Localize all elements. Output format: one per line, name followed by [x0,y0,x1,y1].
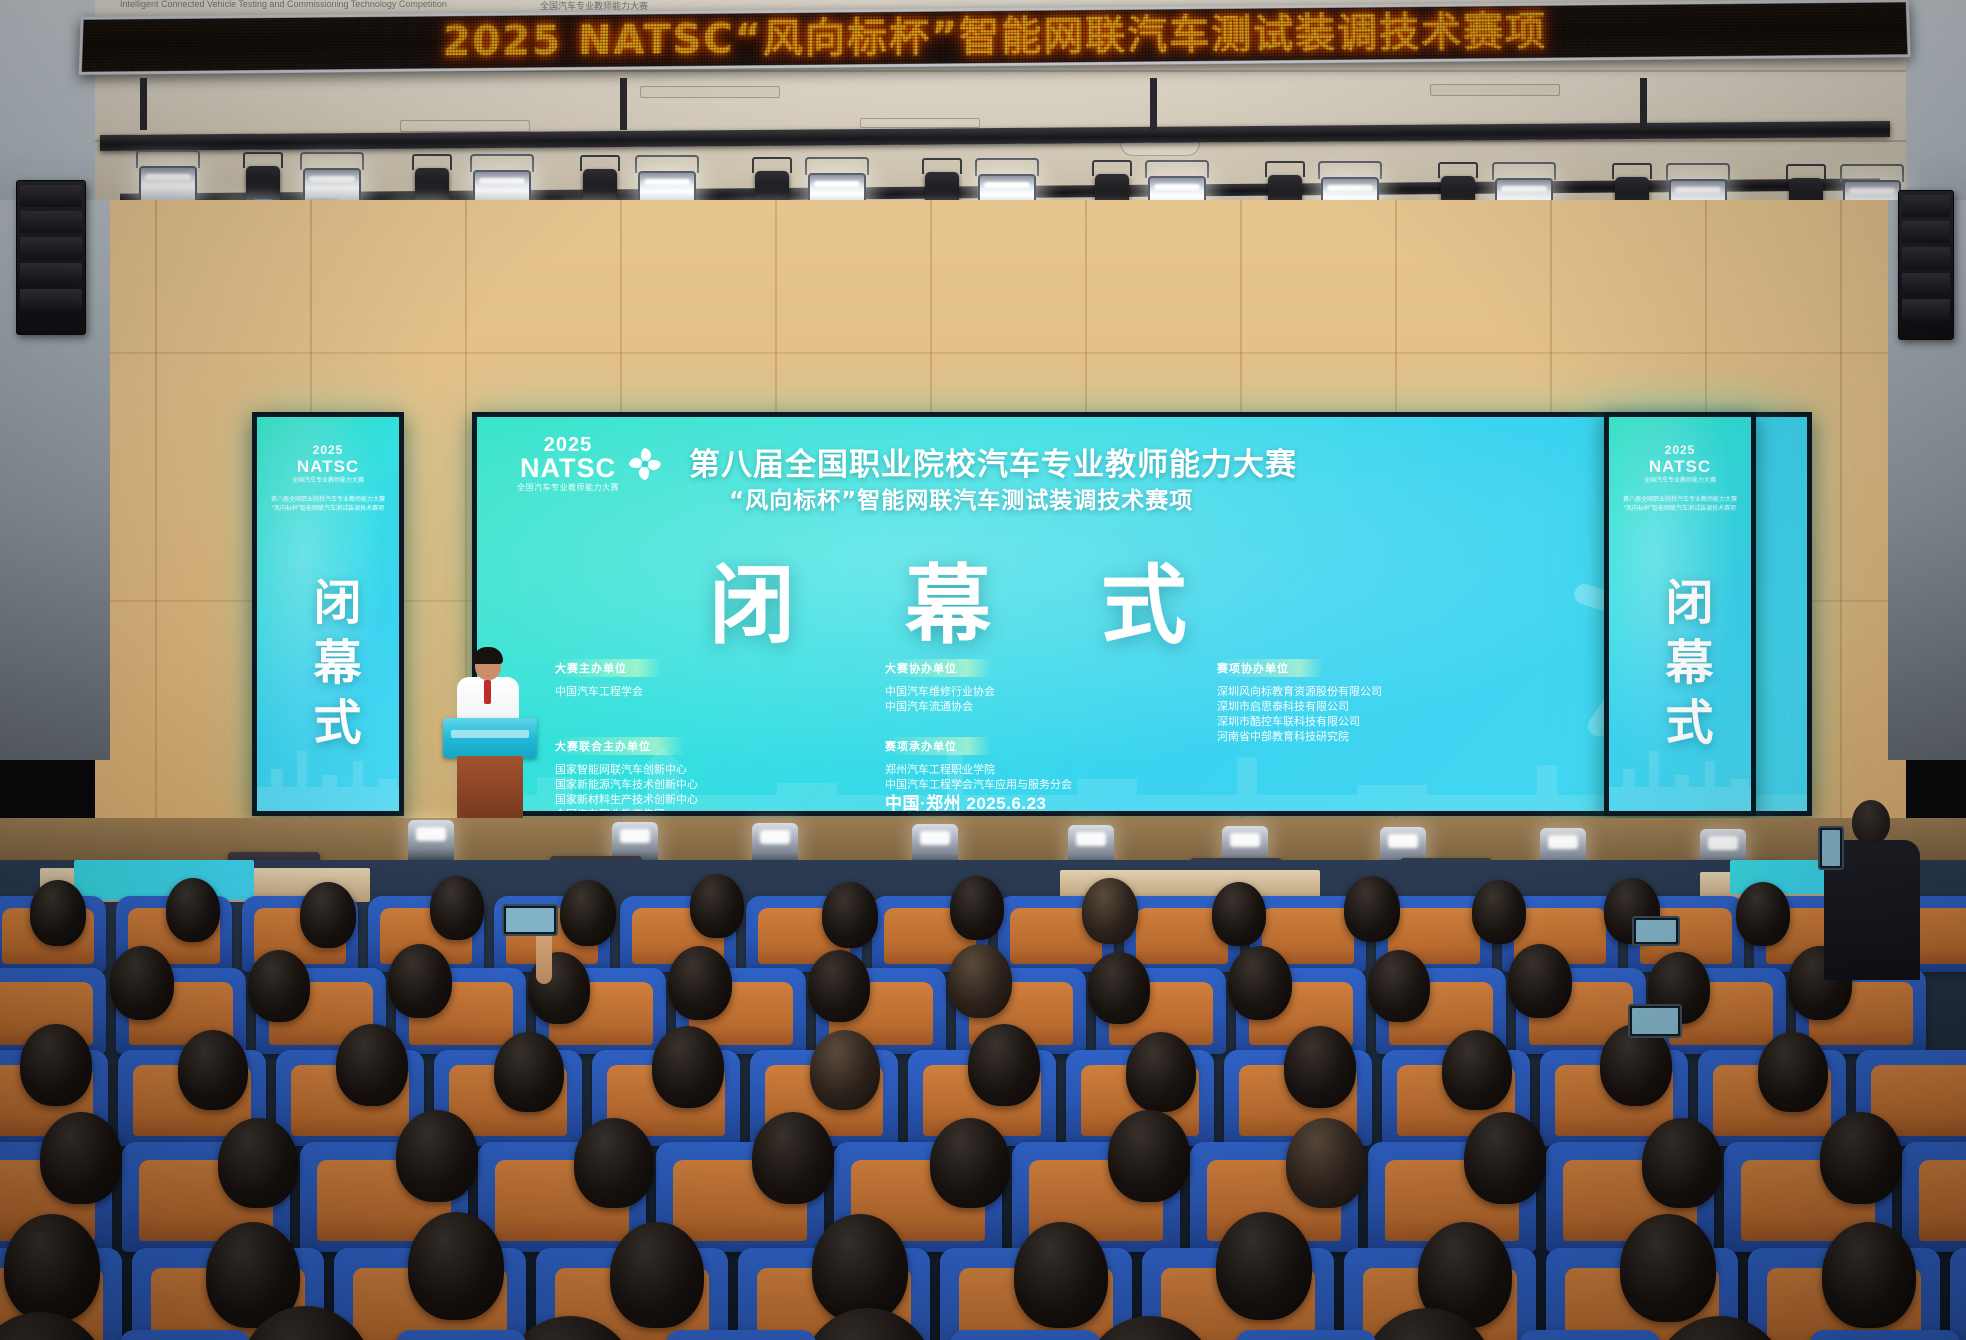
audience-area [0,860,1966,1340]
audience-head [218,1118,298,1208]
natsc-year: 2025 [517,435,619,455]
audience-head [300,882,356,948]
audience-head [110,946,174,1020]
monitor-screen-back [74,860,254,900]
smartphone [1628,1004,1682,1038]
audience-head [1442,1030,1512,1110]
natsc-subtitle: 全国汽车专业教师能力大赛 [517,484,619,492]
audience-head [1820,1112,1902,1204]
side-right-subtitle: 全国汽车专业教师能力大赛 [1609,477,1751,486]
side-screen-left: 2025 NATSC 全国汽车专业教师能力大赛 第八届全国职业院校汽车专业教师能… [252,412,404,816]
audience-head [1082,878,1138,944]
audience-head [1642,1118,1722,1208]
side-right-name: NATSC [1609,457,1751,477]
audience-head [752,1112,834,1204]
audience-head [1736,882,1790,946]
stage-floor-light [752,823,798,865]
pre-banner-left-text: Intelligent Connected Vehicle Testing an… [120,0,447,9]
audience-head [948,944,1012,1018]
fresnel-light [139,166,197,204]
audience-head [248,950,310,1022]
gear-pinwheel-icon [625,444,665,484]
smartphone [502,904,558,936]
audience-head [1212,882,1266,946]
audience-head [1472,880,1526,944]
side-screen-right: 2025 NATSC 全国汽车专业教师能力大赛 第八届全国职业院校汽车专业教师能… [1604,412,1756,816]
audience-head [822,882,878,948]
audience-head [812,1214,908,1322]
audience-head [1508,944,1572,1018]
main-title-line1: 第八届全国职业院校汽车专业教师能力大赛 [689,439,1297,484]
side-right-header: 2025 NATSC 全国汽车专业教师能力大赛 第八届全国职业院校汽车专业教师能… [1609,443,1751,514]
smartphone [1818,826,1844,870]
side-left-name: NATSC [257,457,399,477]
audience-head [408,1212,504,1320]
audience-head [652,1026,724,1108]
audience-head [1108,1110,1190,1202]
audience-head [560,880,616,946]
natsc-name: NATSC [517,455,619,482]
main-title-line2: “风向标杯”智能网联汽车测试装调技术赛项 [729,481,1193,515]
audience-head [1284,1026,1356,1108]
audience-head [40,1112,122,1204]
podium-front-panel [443,718,537,758]
audience-head [1126,1032,1196,1112]
audience-head [1464,1112,1546,1204]
auditorium-stage-photo: Intelligent Connected Vehicle Testing an… [0,0,1966,1340]
audience-head [494,1032,564,1112]
audience-head [1344,876,1400,942]
audience-head [950,876,1004,940]
org-heading: 赛项协办单位 [1217,659,1323,677]
audience-head [4,1214,100,1322]
side-left-line1: 第八届全国职业院校汽车专业教师能力大赛 [257,496,399,505]
pre-banner-right-text: 全国汽车专业教师能力大赛 [540,0,648,12]
org-heading: 大赛协办单位 [885,659,991,677]
audience-head [668,946,732,1020]
side-left-subtitle: 全国汽车专业教师能力大赛 [257,477,399,486]
side-left-header: 2025 NATSC 全国汽车专业教师能力大赛 第八届全国职业院校汽车专业教师能… [257,443,399,514]
audience-head [574,1118,654,1208]
audience-head [388,944,452,1018]
audience-head [1286,1118,1366,1208]
audience-head [336,1024,408,1106]
side-left-line2: “风向标杯”智能网联汽车测试装调技术赛项 [257,505,399,514]
smartphone [1632,916,1680,946]
led-banner-text: 2025 NATSC“风向标杯”智能网联汽车测试装调技术赛项 [442,12,1547,63]
audience-head [1822,1222,1916,1328]
org-heading: 大赛主办单位 [555,659,661,677]
stage-floor-light [408,820,454,862]
audience-head [1088,952,1150,1024]
audience-head [1620,1214,1716,1322]
audience-head [30,880,86,946]
skyline-graphic [1609,691,1756,811]
side-left-year: 2025 [257,443,399,457]
audience-head [166,878,220,942]
audience-head [968,1024,1040,1106]
audience-head [610,1222,704,1328]
audience-head [1368,950,1430,1022]
audience-head [810,1030,880,1110]
audience-head [930,1118,1010,1208]
videographer [1824,800,1934,980]
audience-head [690,874,744,938]
audience-head [1216,1212,1312,1320]
line-array-speaker-right [1898,190,1954,340]
side-right-line1: 第八届全国职业院校汽车专业教师能力大赛 [1609,496,1751,505]
audience-head [396,1110,478,1202]
skyline-graphic [257,691,404,811]
audience-head [1014,1222,1108,1328]
side-right-year: 2025 [1609,443,1751,457]
audience-head [20,1024,92,1106]
audience-head [178,1030,248,1110]
audience-head [1758,1032,1828,1112]
audience-head [1228,946,1292,1020]
audience-head [430,876,484,940]
natsc-logo: 2025 NATSC 全国汽车专业教师能力大赛 [517,435,665,492]
side-right-line2: “风向标杯”智能网联汽车测试装调技术赛项 [1609,505,1751,514]
audience-head [808,950,870,1022]
ceremony-headline: 闭 幕 式 [709,535,1227,660]
